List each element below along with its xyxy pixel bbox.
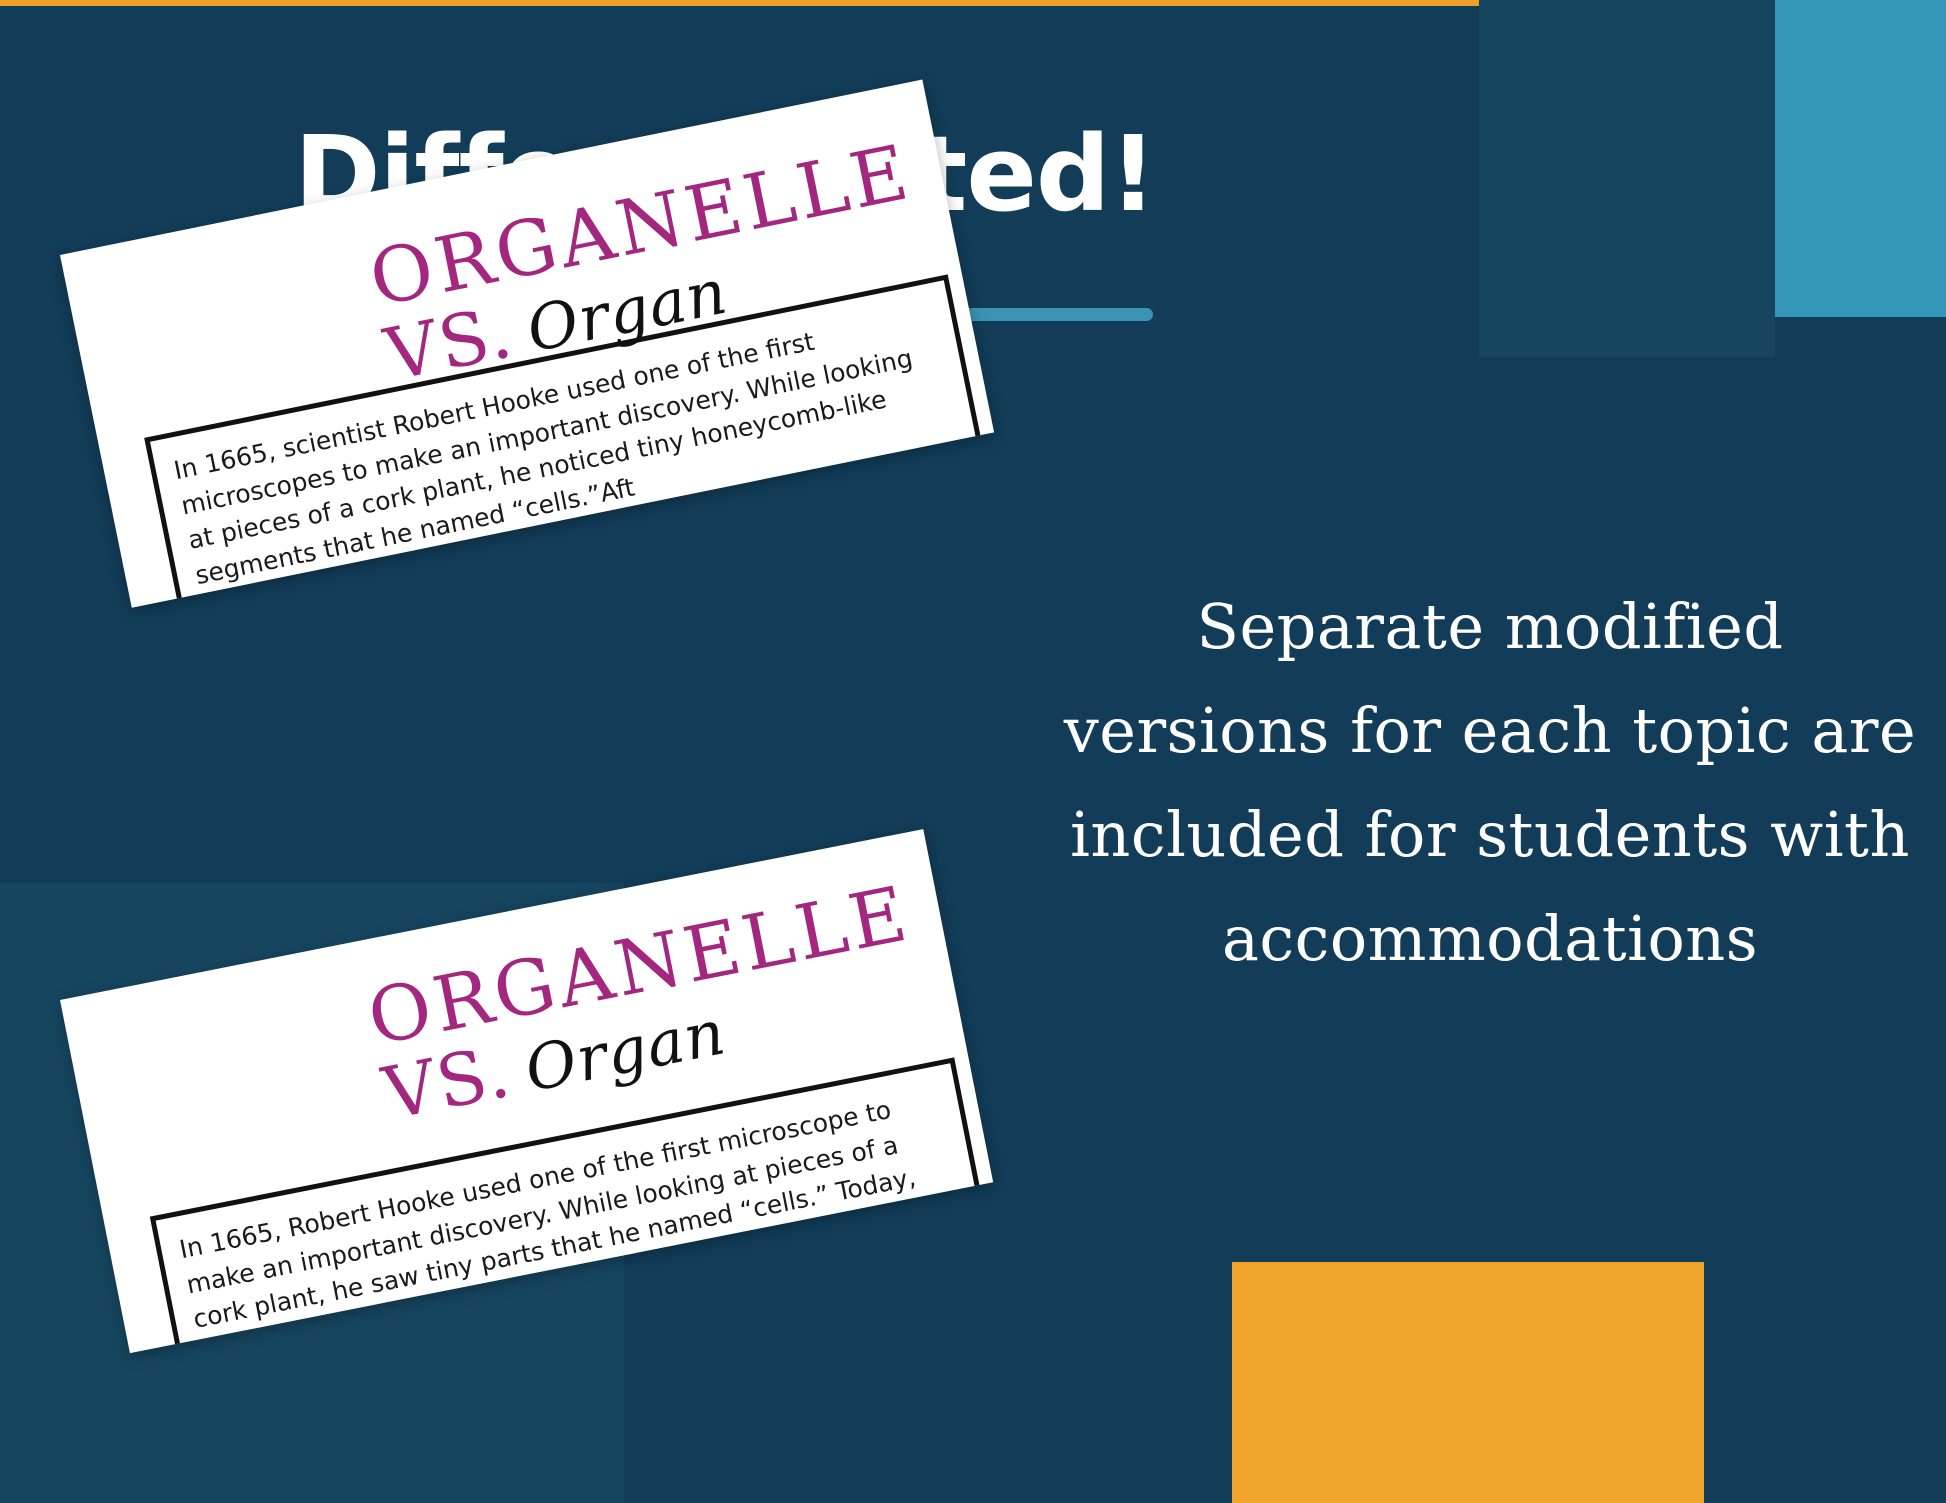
slide-canvas: Differentiated! Separate modified versio… <box>0 0 1946 1503</box>
body-text: Separate modified versions for each topi… <box>1060 575 1920 992</box>
orange-accent-block-bottom-right <box>1232 1262 1704 1503</box>
navy-accent-block-top-right <box>1479 0 1775 357</box>
teal-accent-block-top-right <box>1775 0 1946 317</box>
